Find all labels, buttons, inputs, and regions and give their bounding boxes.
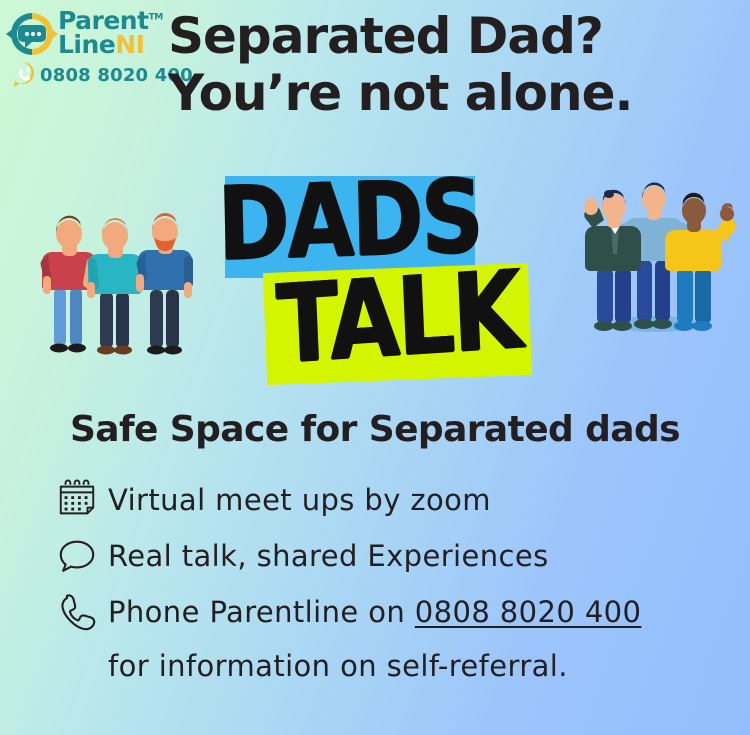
page-title: Separated Dad? You’re not alone. xyxy=(168,8,598,122)
speech-bubble-icon xyxy=(46,535,108,577)
logo-line-2: LineNI xyxy=(58,33,163,57)
calendar-icon xyxy=(46,479,108,521)
subheading: Safe Space for Separated dads xyxy=(0,409,750,450)
three-men-standing-illustration xyxy=(28,196,206,374)
phone-bubble-icon xyxy=(10,61,36,89)
list-item: Real talk, shared Experiences xyxy=(46,528,736,584)
list-item-phone: Phone Parentline on 0808 8020 400 xyxy=(46,584,736,640)
speech-bubble-refresh-icon xyxy=(6,8,58,60)
dads-talk-wordmark: DADS TALK xyxy=(205,168,545,390)
list-item-label: Real talk, shared Experiences xyxy=(108,539,549,573)
figure-blue-shirt-bearded xyxy=(136,213,193,354)
logo-phone-row: 0808 8020 400 xyxy=(10,61,193,89)
figure-green-jacket xyxy=(584,190,641,331)
parentline-ni-logo: ParentTM LineNI 0808 8020 400 xyxy=(6,6,158,88)
list-item: Virtual meet ups by zoom xyxy=(46,472,736,528)
headline-line-2: You’re not alone. xyxy=(168,65,598,122)
logo-trademark: TM xyxy=(149,13,163,23)
phone-number[interactable]: 0808 8020 400 xyxy=(415,595,642,629)
continuation-label: for information on self-referral. xyxy=(108,649,568,683)
list-item-continuation: for information on self-referral. xyxy=(46,640,736,692)
list-item-label: Virtual meet ups by zoom xyxy=(108,483,491,517)
headline-line-1: Separated Dad? xyxy=(168,8,598,65)
phone-line-text: Phone Parentline on 0808 8020 400 xyxy=(108,595,641,629)
poster-canvas: ParentTM LineNI 0808 8020 400 Separated … xyxy=(0,0,750,735)
phone-handset-icon xyxy=(46,591,108,633)
logo-wordmark: ParentTM LineNI xyxy=(58,9,163,56)
three-men-arms-linked-illustration xyxy=(575,172,735,344)
info-list: Virtual meet ups by zoom Real talk, shar… xyxy=(46,472,736,692)
wordmark-talk: TALK xyxy=(275,257,523,380)
figure-yellow-shirt xyxy=(665,193,735,331)
phone-line-prefix: Phone Parentline on xyxy=(108,595,415,629)
logo-text-ni: NI xyxy=(115,30,144,59)
logo-text-line: Line xyxy=(58,30,115,59)
